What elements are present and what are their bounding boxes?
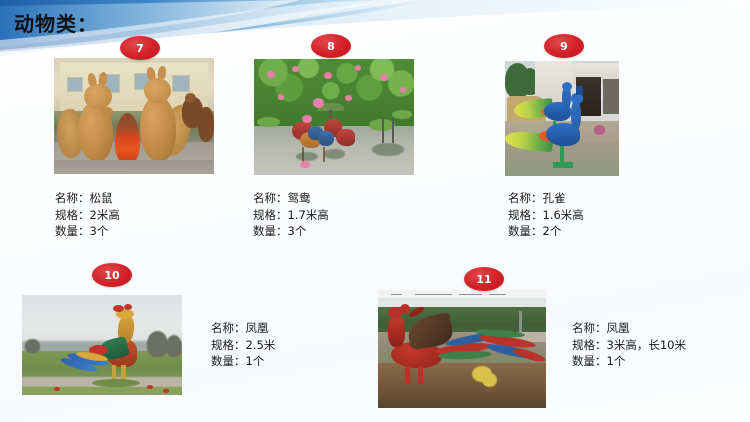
caption-phoenix-field: 名称：凤凰 规格：2.5米 数量：1个	[211, 320, 275, 370]
phoenix-field-scene	[22, 295, 182, 395]
caption-spec-line-11: 规格：3米高，长10米	[572, 337, 686, 354]
caption-spec-line-8: 规格：1.7米高	[253, 207, 329, 224]
caption-spec-line-10: 规格：2.5米	[211, 337, 275, 354]
caption-squirrel: 名称：松鼠 规格：2米高 数量：3个	[55, 190, 120, 240]
photo-mandarin-duck[interactable]	[254, 59, 414, 175]
photo-squirrel[interactable]	[54, 58, 214, 174]
slide-canvas: 动物类： 7	[0, 0, 750, 422]
caption-spec-line-7: 规格：2米高	[55, 207, 120, 224]
caption-name-line-11: 名称：凤凰	[572, 320, 686, 337]
caption-qty-line-11: 数量：1个	[572, 353, 686, 370]
caption-peacock: 名称：孔雀 规格：1.6米高 数量：2个	[508, 190, 584, 240]
caption-name-line-9: 名称：孔雀	[508, 190, 584, 207]
caption-name-line-8: 名称：鸳鸯	[253, 190, 329, 207]
caption-qty-line-10: 数量：1个	[211, 353, 275, 370]
caption-qty-line-7: 数量：3个	[55, 223, 120, 240]
badge-11: 11	[464, 267, 504, 291]
photo-phoenix-field[interactable]	[22, 295, 182, 395]
caption-qty-line-9: 数量：2个	[508, 223, 584, 240]
page-title: 动物类：	[14, 14, 98, 34]
caption-name-line-10: 名称：凤凰	[211, 320, 275, 337]
lotus-pond-scene	[254, 59, 414, 175]
photo-phoenix-long-tail[interactable]	[378, 290, 546, 408]
peacock-scene	[505, 61, 619, 176]
caption-mandarin-duck: 名称：鸳鸯 规格：1.7米高 数量：3个	[253, 190, 329, 240]
caption-phoenix-long-tail: 名称：凤凰 规格：3米高，长10米 数量：1个	[572, 320, 686, 370]
caption-name-line-7: 名称：松鼠	[55, 190, 120, 207]
badge-10: 10	[92, 263, 132, 287]
squirrel-scene	[54, 58, 214, 174]
badge-9: 9	[544, 34, 584, 58]
caption-qty-line-8: 数量：3个	[253, 223, 329, 240]
badge-7: 7	[120, 36, 160, 60]
badge-8: 8	[311, 34, 351, 58]
caption-spec-line-9: 规格：1.6米高	[508, 207, 584, 224]
photo-peacock[interactable]	[505, 61, 619, 176]
phoenix-hill-scene	[378, 290, 546, 408]
